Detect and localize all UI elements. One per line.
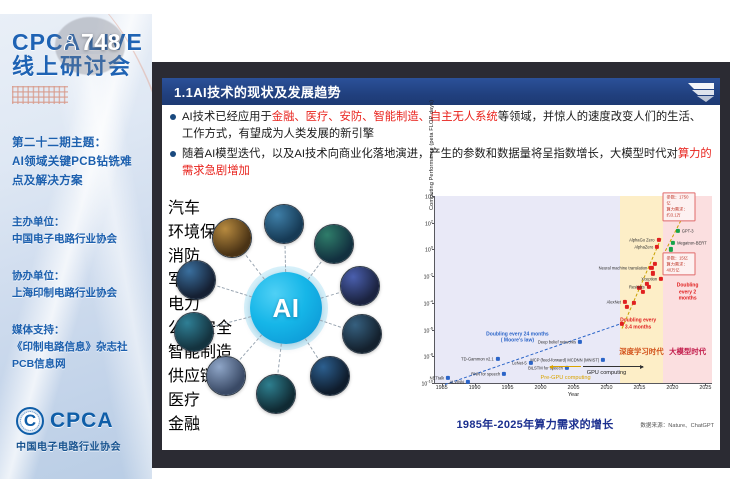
chart-era-label: 深度学习时代 [619, 346, 663, 357]
chart-annotation: Doubling every 24 months ( Moore's law) [486, 331, 549, 344]
viewer-count-value: 748 [81, 29, 121, 56]
hub-node-thumbnail [342, 314, 382, 354]
chart-point-label: Megatron-BERT [677, 240, 707, 245]
bullet-text-run: AI技术已经应用于 [182, 111, 272, 123]
media-support-value-2: PCB信息网 [12, 356, 148, 373]
dot-pattern-decoration [12, 86, 68, 104]
hub-node-thumbnail [314, 224, 354, 264]
chart-caption: 1985年-2025年算力需求的增长 [430, 416, 640, 432]
slide-bullet: 随着AI模型迭代，以及AI技术向商业化落地演进，产生的参数和数据量将呈指数增长，… [170, 146, 712, 180]
media-support-label: 媒体支持： [12, 322, 148, 339]
chart-data-point [647, 285, 651, 289]
chart-annotation: Doubling every 3.4 months [620, 318, 656, 331]
ribbon-icon [686, 81, 714, 102]
chart-x-tick-mark [672, 383, 673, 386]
chart-data-point [623, 299, 627, 303]
slide-frame: 1.1AI技术的现状及发展趋势 AI技术已经应用于金融、医疗、安防、智能制造、自… [152, 62, 730, 468]
chart-y-tick-mark [432, 223, 435, 224]
chart-callout-box: 参数：15亿 算力需求：40万亿 [663, 252, 696, 275]
chart-era-label: 大模型时代 [669, 346, 706, 357]
host-section: 主办单位： 中国电子电路行业协会 [12, 214, 148, 248]
hub-node [174, 312, 214, 352]
slide-bullet: AI技术已经应用于金融、医疗、安防、智能制造、自主无人系统等领域，并惊人的速度改… [170, 109, 712, 143]
compute-growth-chart: Computing Performance (peta FLOP days) Y… [400, 190, 716, 420]
chart-callout-box: 参数：1750亿 算力需求：约3.1万 [663, 192, 696, 221]
chart-data-point [676, 229, 680, 233]
hub-node [264, 204, 304, 244]
hub-node [206, 356, 246, 396]
chart-data-point [625, 305, 629, 309]
bullet-dot-icon [170, 114, 176, 120]
co-organizer-value: 上海印制电路行业协会 [12, 285, 148, 302]
chart-data-point [653, 262, 657, 266]
person-icon [63, 35, 77, 50]
chart-point-label: AlphaZero [634, 244, 653, 249]
hub-node-thumbnail [264, 204, 304, 244]
chart-data-point [631, 301, 635, 305]
chart-x-axis-label: Year [568, 392, 579, 398]
topic-line-1: AI领域关键PCB钻铣难 [12, 153, 148, 172]
hub-node-thumbnail [256, 374, 296, 414]
hub-node [310, 356, 350, 396]
chart-data-point [655, 245, 659, 249]
cpca-logo-subtitle: 中国电子电路行业协会 [16, 438, 144, 453]
chart-x-tick-mark [574, 383, 575, 386]
chart-point-label: TD-Gammon v2.1 [461, 356, 494, 361]
slide-bullet-text: 随着AI模型迭代，以及AI技术向商业化落地演进，产生的参数和数据量将呈指数增长，… [182, 146, 712, 180]
presentation-slide: 1.1AI技术的现状及发展趋势 AI技术已经应用于金融、医疗、安防、智能制造、自… [162, 78, 720, 450]
co-organizer-label: 协办单位： [12, 268, 148, 285]
chart-data-point [671, 241, 675, 245]
slide-title-bar: 1.1AI技术的现状及发展趋势 [162, 78, 720, 105]
chart-point-label: Neural machine translation [599, 266, 648, 271]
hub-node-thumbnail [212, 218, 252, 258]
media-support-value-1: 《印制电路信息》杂志社 [12, 339, 148, 356]
topic-label: 第二十二期主题： [12, 134, 148, 153]
chart-point-label: ResNets [629, 284, 645, 289]
chart-y-tick-mark [432, 276, 435, 277]
topic-section: 第二十二期主题： AI领域关键PCB钻铣难 点及解决方案 [12, 134, 148, 191]
chart-point-label: GPT-3 [682, 228, 694, 233]
cpca-logo: CPCA 中国电子电路行业协会 [16, 407, 144, 453]
hub-node [176, 260, 216, 300]
hub-node [342, 314, 382, 354]
chart-y-tick-mark [432, 196, 435, 197]
chart-data-point [601, 358, 605, 362]
chart-x-tick-mark [606, 383, 607, 386]
hub-node [212, 218, 252, 258]
chart-source-note: 数据来源：Nature、ChatGPT [640, 421, 714, 429]
hub-node [314, 224, 354, 264]
chart-data-point [466, 380, 470, 384]
chart-gpu-computing-label: GPU computing [587, 370, 626, 376]
hub-node-thumbnail [174, 312, 214, 352]
hub-node-thumbnail [176, 260, 216, 300]
chart-data-point [578, 339, 582, 343]
chart-point-label: RNN for speech [471, 371, 500, 376]
chart-y-tick-mark [432, 249, 435, 250]
chart-gpu-computing-arrow [583, 366, 642, 367]
slide-title: 1.1AI技术的现状及发展趋势 [174, 82, 341, 101]
chart-data-point [649, 266, 653, 270]
chart-point-label: LeNet-5 [512, 360, 527, 365]
chart-point-label: AlphaGo Zero [629, 238, 655, 243]
chart-data-point [669, 247, 673, 251]
chart-data-point [659, 277, 663, 281]
hub-node-thumbnail [206, 356, 246, 396]
slide-bullet-text: AI技术已经应用于金融、医疗、安防、智能制造、自主无人系统等领域，并惊人的速度改… [182, 109, 712, 143]
host-value: 中国电子电路行业协会 [12, 231, 148, 248]
chart-data-point [641, 290, 645, 294]
hub-node-thumbnail [340, 266, 380, 306]
slide-body: AI 汽车环境保护消防军事电力公共安全智能制造供应链医疗金融 Computing… [162, 196, 720, 450]
chart-y-axis-label: Computing Performance (peta FLOP days) [429, 78, 435, 210]
topic-line-2: 点及解决方案 [12, 172, 148, 191]
co-organizer-section: 协办单位： 上海印制电路行业协会 [12, 268, 148, 302]
chart-x-tick-mark [475, 383, 476, 386]
chart-data-point [656, 238, 660, 242]
chart-point-label: AlexNet [607, 299, 621, 304]
chart-x-tick-mark [541, 383, 542, 386]
cpca-logo-text: CPCA [50, 409, 114, 433]
chart-x-tick-mark [508, 383, 509, 386]
chart-point-label: Xception [641, 276, 657, 281]
chart-pre-gpu-arrow [550, 366, 581, 367]
viewer-count-badge: 748 [63, 29, 121, 56]
chart-y-tick-mark [432, 303, 435, 304]
hub-node-thumbnail [310, 356, 350, 396]
chart-pre-gpu-label: Pre-GPU computing [541, 375, 591, 381]
chart-point-label: MCP (feed-forward) MCDNN (MNIST) [530, 358, 599, 363]
chart-y-tick-mark [432, 356, 435, 357]
cpca-emblem-icon [16, 407, 44, 435]
chart-point-label: NETtalk [430, 375, 445, 380]
chart-data-point [496, 357, 500, 361]
chart-x-tick-mark [639, 383, 640, 386]
slide-bullet-list: AI技术已经应用于金融、医疗、安防、智能制造、自主无人系统等领域，并惊人的速度改… [170, 109, 712, 184]
ai-application-hub-diagram: AI 汽车环境保护消防军事电力公共安全智能制造供应链医疗金融 [168, 194, 400, 422]
hub-node [256, 374, 296, 414]
chart-y-tick-mark [432, 330, 435, 331]
chart-annotation: Doubling every 2 months [675, 282, 699, 302]
chart-data-point [651, 271, 655, 275]
chart-point-label: ALVINN [450, 379, 464, 384]
highlighted-term: 金融、医疗、安防、智能制造、自主无人系统 [272, 111, 498, 123]
hub-node [340, 266, 380, 306]
livestream-screen: CPCA LIVE 线上研讨会 第二十二期主题： AI领域关键PCB钻铣难 点及… [0, 0, 730, 485]
chart-x-tick-mark [705, 383, 706, 386]
chart-plot-area: Computing Performance (peta FLOP days) Y… [434, 196, 712, 384]
chart-x-tick-mark [442, 383, 443, 386]
chart-data-point [502, 372, 506, 376]
media-support-section: 媒体支持： 《印制电路信息》杂志社 PCB信息网 [12, 322, 148, 372]
chart-y-tick-mark [432, 383, 435, 384]
bullet-dot-icon [170, 151, 176, 157]
ai-center-label: AI [273, 293, 300, 324]
host-label: 主办单位： [12, 214, 148, 231]
branding-sidebar: CPCA LIVE 线上研讨会 第二十二期主题： AI领域关键PCB钻铣难 点及… [0, 14, 152, 479]
